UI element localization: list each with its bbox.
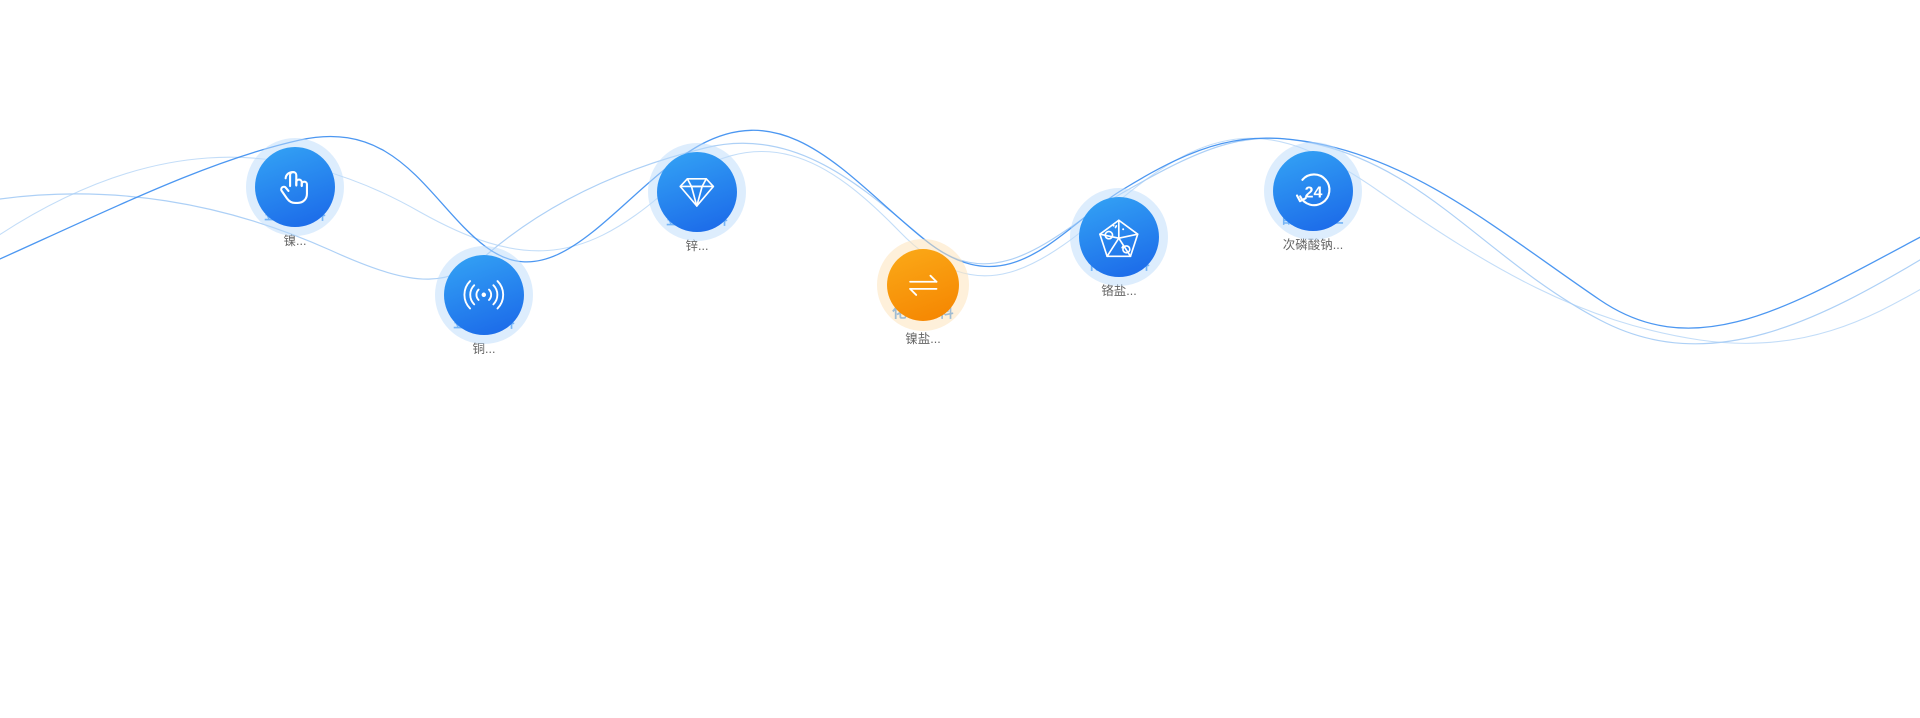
flow-node-supporting-chemical[interactable]: 24 配套化工 次磷酸钠... (1213, 209, 1413, 253)
hand-click-icon (270, 162, 320, 212)
flow-curve-layer (0, 0, 1920, 718)
node-disc[interactable] (255, 147, 335, 227)
node-subtitle: 镍盐... (823, 331, 1023, 347)
radar-signal-icon (459, 270, 509, 320)
diamond-icon (672, 167, 722, 217)
equilibrium-arrows-icon (901, 263, 946, 308)
node-disc[interactable] (1079, 197, 1159, 277)
node-disc[interactable]: 24 (1273, 151, 1353, 231)
pentagon-molecule-icon (1094, 212, 1144, 262)
svg-text:24: 24 (1305, 185, 1323, 202)
node-disc[interactable] (444, 255, 524, 335)
flow-node-metal-zinc[interactable]: 金属材料 锌... (597, 210, 797, 254)
twentyfour-hour-icon: 24 (1288, 166, 1338, 216)
flow-node-metal-nickel[interactable]: 金属材料 镍... (195, 205, 395, 249)
supply-chain-canvas: 金属材料 镍... 金属材料 铜 (0, 0, 1920, 718)
flow-node-chemical-chrome-salt[interactable]: 化学原料 铬盐... (1019, 255, 1219, 299)
flow-node-metal-copper[interactable]: 金属材料 铜... (384, 313, 584, 357)
flow-node-chemical-nickel-salt[interactable]: 化工原料 镍盐... (823, 303, 1023, 347)
node-disc[interactable] (887, 249, 959, 321)
node-disc[interactable] (657, 152, 737, 232)
